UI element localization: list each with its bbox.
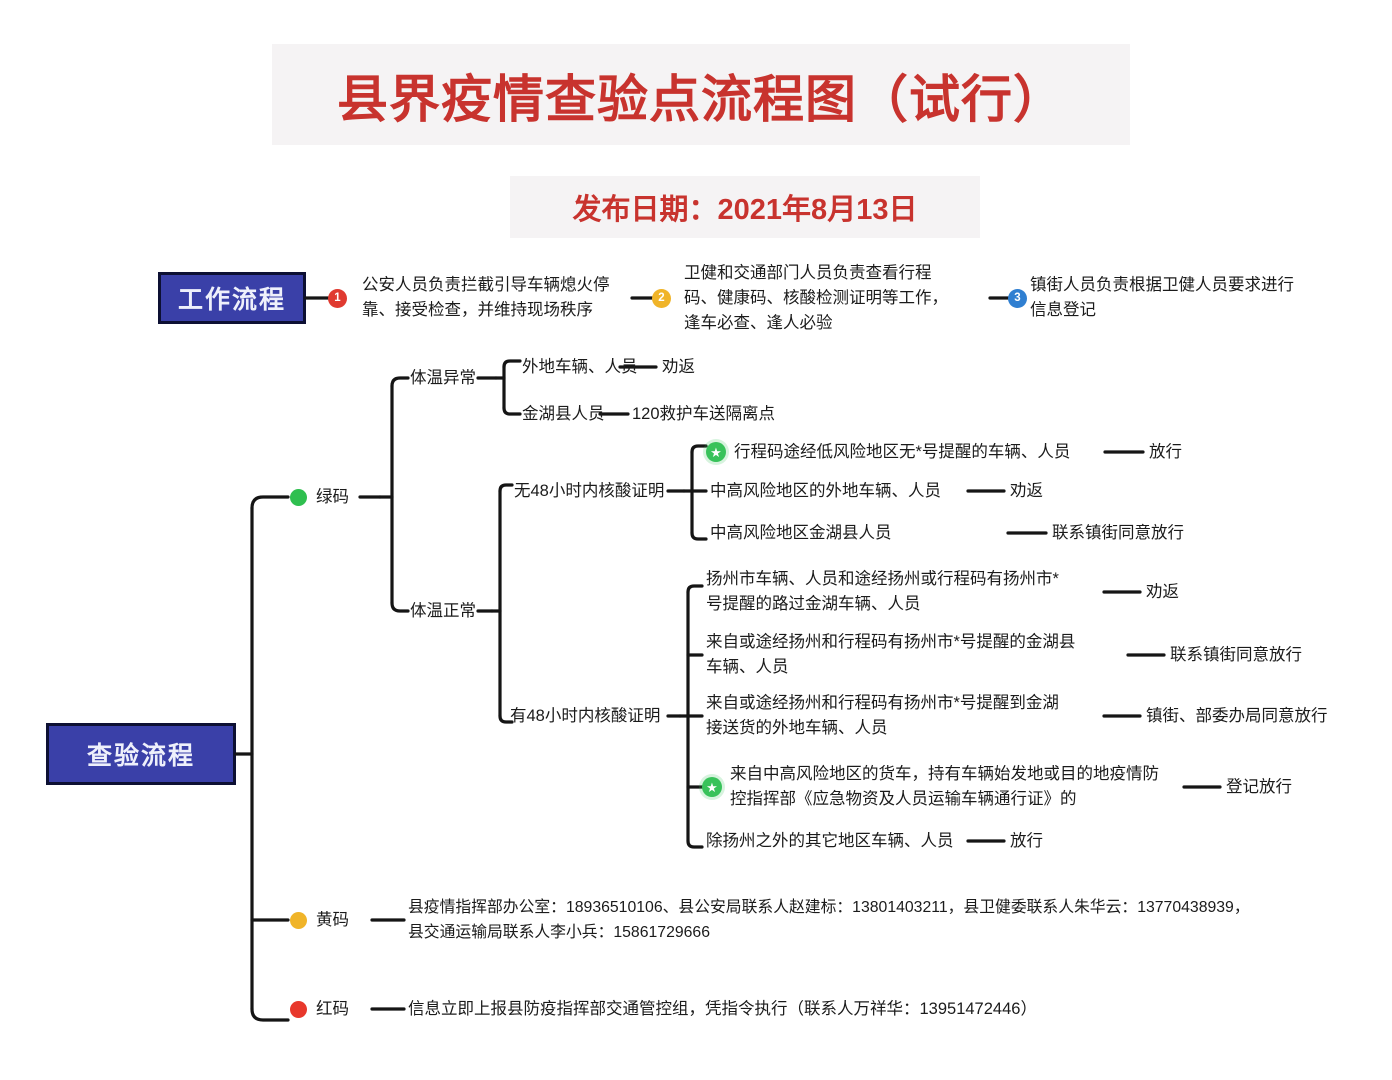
leaf-nopcr-1-text: 行程码途经低风险地区无*号提醒的车辆、人员 [734,440,1070,465]
leaf-haspcr-2-text: 来自或途经扬州和行程码有扬州市*号提醒的金湖县 车辆、人员 [706,630,1126,680]
step-badge-1: 1 [328,289,347,308]
leaf-abnormal-2-outcome: 120救护车送隔离点 [632,402,775,427]
yellow-code-label: 黄码 [316,908,349,933]
leaf-haspcr-3-outcome: 镇街、部委办局同意放行 [1146,704,1328,729]
red-code-label: 红码 [316,997,349,1022]
page-title: 县界疫情查验点流程图（试行） [272,44,1130,145]
leaf-nopcr-3-text: 中高风险地区金湖县人员 [710,521,892,546]
leaf-haspcr-4-text: 来自中高风险地区的货车，持有车辆始发地或目的地疫情防 控指挥部《应急物资及人员运… [730,762,1190,812]
leaf-abnormal-1-outcome: 劝返 [662,355,695,380]
leaf-nopcr-2-text: 中高风险地区的外地车辆、人员 [710,479,941,504]
branch-label-abnormal-temperature: 体温异常 [410,366,476,391]
red-code-detail-text: 信息立即上报县防疫指挥部交通管控组，凭指令执行（联系人万祥华：139514724… [408,997,1037,1022]
branch-label-no-pcr: 无48小时内核酸证明 [514,479,664,504]
yellow-code-dot [290,912,307,929]
leaf-haspcr-2-outcome: 联系镇街同意放行 [1170,643,1302,668]
star-icon: ★ [706,442,726,462]
step-badge-3: 3 [1008,289,1027,308]
star-icon: ★ [702,777,722,797]
leaf-abnormal-2-text: 金湖县人员 [522,402,605,427]
leaf-haspcr-5-outcome: 放行 [1010,829,1043,854]
flowchart-canvas: 县界疫情查验点流程图（试行） 发布日期：2021年8月13日 工作流程 查验流程 [0,0,1392,1080]
green-code-dot [290,489,307,506]
leaf-haspcr-4-outcome: 登记放行 [1226,775,1292,800]
leaf-haspcr-3-text: 来自或途经扬州和行程码有扬州市*号提醒到金湖 接送货的外地车辆、人员 [706,691,1106,741]
leaf-nopcr-2-outcome: 劝返 [1010,479,1043,504]
step-badge-2: 2 [652,289,671,308]
branch-label-normal-temperature: 体温正常 [410,599,476,624]
leaf-haspcr-5-text: 除扬州之外的其它地区车辆、人员 [706,829,954,854]
root-box-workflow[interactable]: 工作流程 [158,272,306,324]
leaf-nopcr-1-outcome: 放行 [1149,440,1182,465]
workflow-step-3-text: 镇街人员负责根据卫健人员要求进行 信息登记 [1030,273,1350,323]
leaf-haspcr-1-outcome: 劝返 [1146,580,1179,605]
red-code-dot [290,1001,307,1018]
leaf-nopcr-3-outcome: 联系镇街同意放行 [1052,521,1184,546]
branch-label-has-pcr: 有48小时内核酸证明 [510,704,660,729]
root-box-inspection[interactable]: 查验流程 [46,723,236,785]
leaf-haspcr-1-text: 扬州市车辆、人员和途经扬州或行程码有扬州市* 号提醒的路过金湖车辆、人员 [706,567,1106,617]
workflow-step-1-text: 公安人员负责拦截引导车辆熄火停 靠、接受检查，并维持现场秩序 [362,273,642,323]
yellow-code-detail-text: 县疫情指挥部办公室：18936510106、县公安局联系人赵建标：1380140… [408,895,1338,945]
leaf-abnormal-1-text: 外地车辆、人员 [522,355,638,380]
green-code-label: 绿码 [316,485,349,510]
publish-date: 发布日期：2021年8月13日 [510,176,980,238]
workflow-step-2-text: 卫健和交通部门人员负责查看行程 码、健康码、核酸检测证明等工作， 逢车必查、逢人… [684,261,994,336]
